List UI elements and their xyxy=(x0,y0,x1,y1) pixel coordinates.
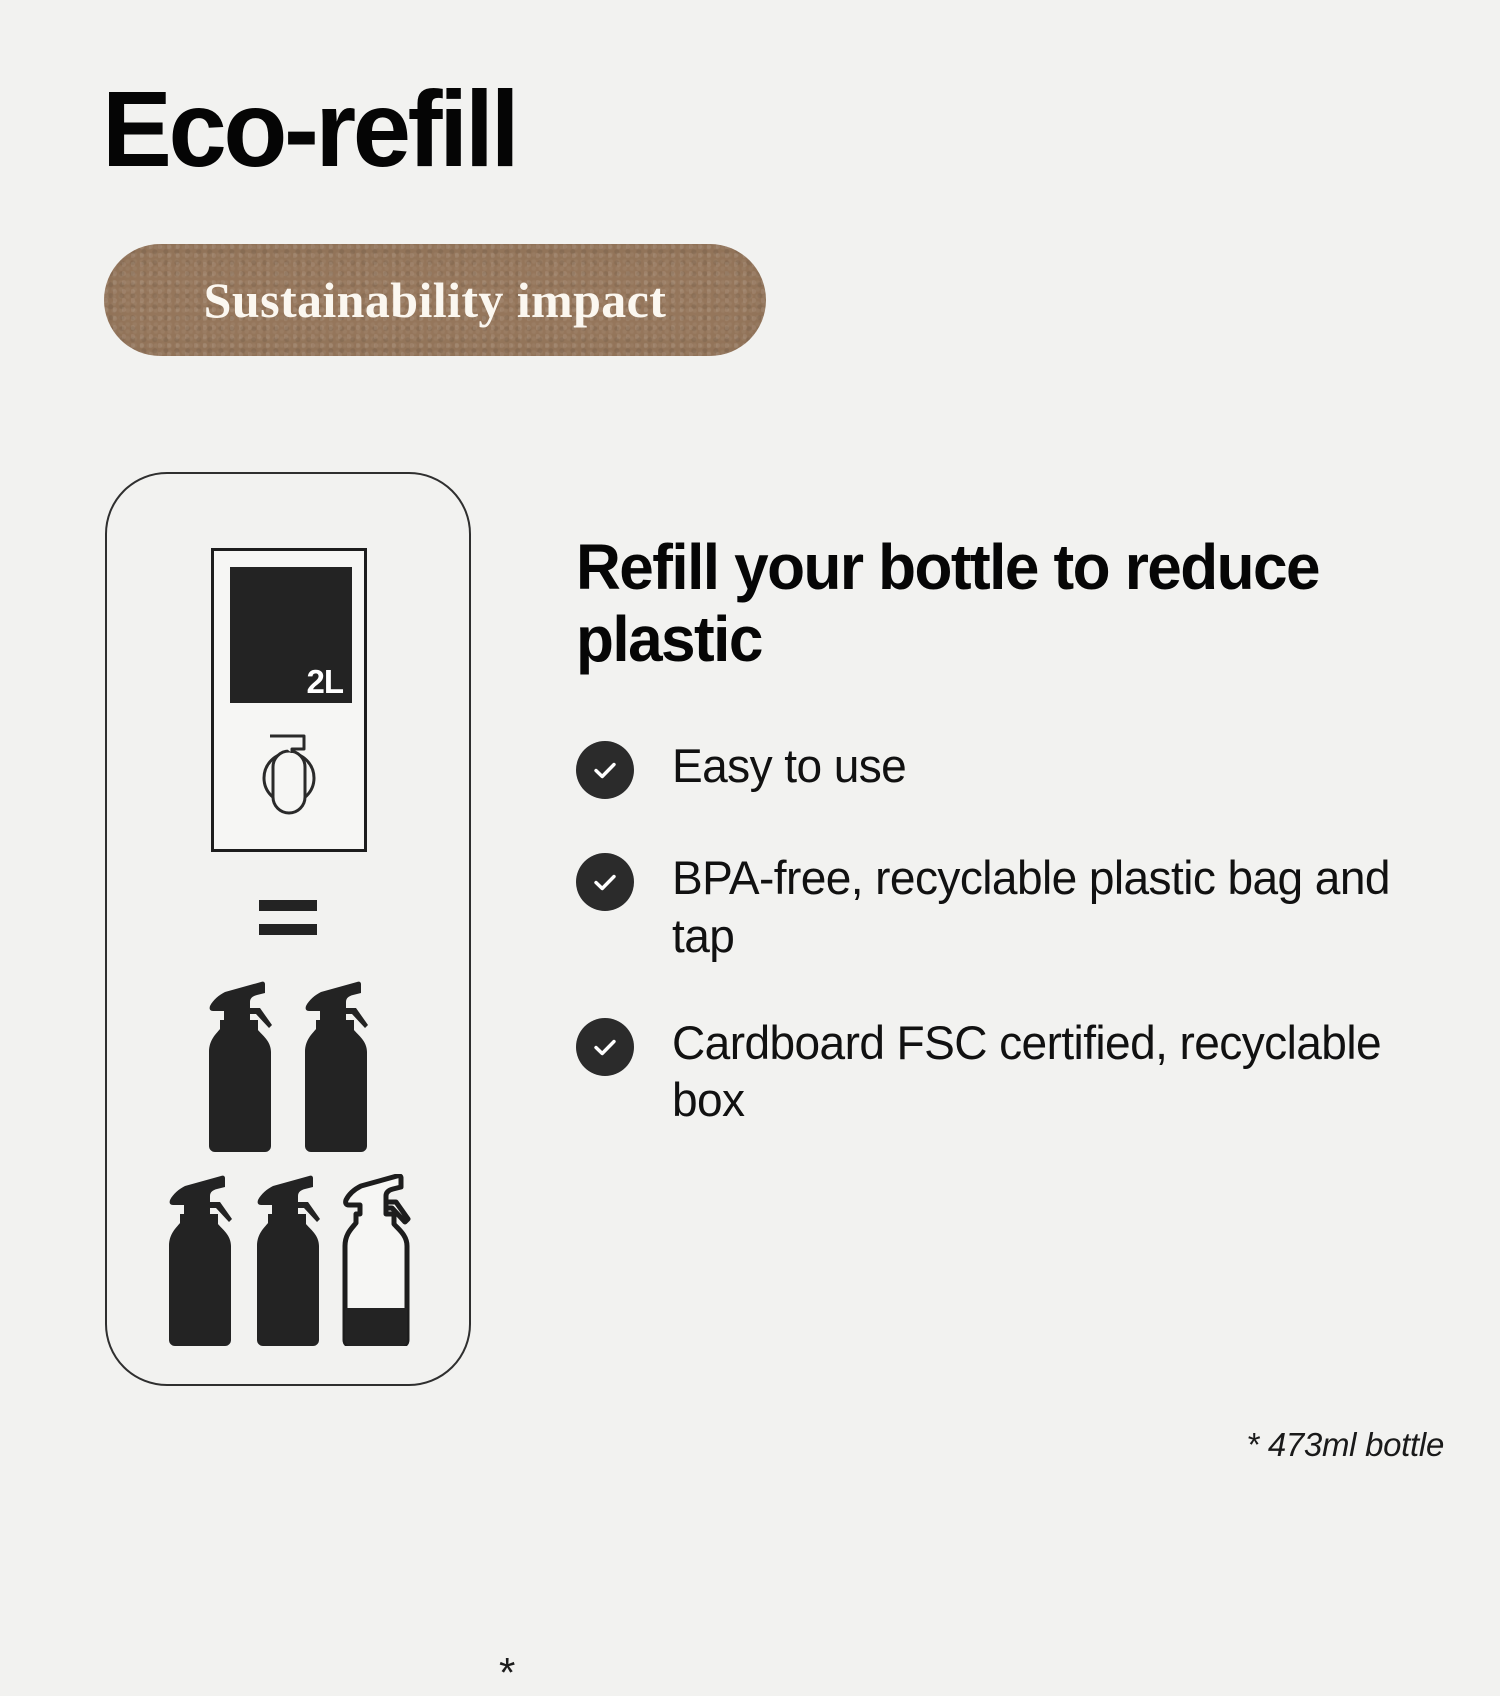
equals-bar-top xyxy=(259,900,317,911)
list-item-label: Cardboard FSC certified, recyclable box xyxy=(672,1014,1421,1129)
check-icon xyxy=(576,1018,634,1076)
spray-bottle-row-three xyxy=(107,1174,469,1346)
benefit-list: Easy to use BPA-free, recyclable plastic… xyxy=(576,737,1436,1128)
spray-bottle-row-two xyxy=(107,980,469,1152)
refill-box-icon: 2L xyxy=(211,548,367,852)
content-heading: Refill your bottle to reduce plastic xyxy=(576,532,1410,675)
spray-bottle-icon xyxy=(203,980,277,1152)
asterisk-marker: * xyxy=(499,1652,515,1694)
spray-bottle-outline-icon xyxy=(339,1174,413,1346)
list-item-label: Easy to use xyxy=(672,737,906,794)
refill-box-window: 2L xyxy=(230,567,352,703)
spray-bottle-icon xyxy=(251,1174,325,1346)
equals-bar-bottom xyxy=(259,924,317,935)
footnote: * 473ml bottle xyxy=(1246,1426,1444,1464)
eco-refill-infographic: Eco-refill Sustainability impact 2L xyxy=(0,0,1500,1500)
content-column: Refill your bottle to reduce plastic Eas… xyxy=(576,532,1436,1129)
check-icon xyxy=(576,741,634,799)
list-item-label: BPA-free, recyclable plastic bag and tap xyxy=(672,849,1421,964)
status-badge-label: Sustainability impact xyxy=(204,271,667,329)
list-item: Easy to use xyxy=(576,737,1436,799)
illustration-panel: 2L xyxy=(105,472,471,1386)
list-item: Cardboard FSC certified, recyclable box xyxy=(576,1014,1436,1129)
tap-icon xyxy=(214,729,364,815)
list-item: BPA-free, recyclable plastic bag and tap xyxy=(576,849,1436,964)
spray-bottle-icon xyxy=(163,1174,237,1346)
page-title: Eco-refill xyxy=(102,72,516,185)
spray-bottle-icon xyxy=(299,980,373,1152)
equals-symbol xyxy=(107,900,469,935)
volume-label: 2L xyxy=(306,665,343,698)
status-badge: Sustainability impact xyxy=(104,244,766,356)
check-icon xyxy=(576,853,634,911)
